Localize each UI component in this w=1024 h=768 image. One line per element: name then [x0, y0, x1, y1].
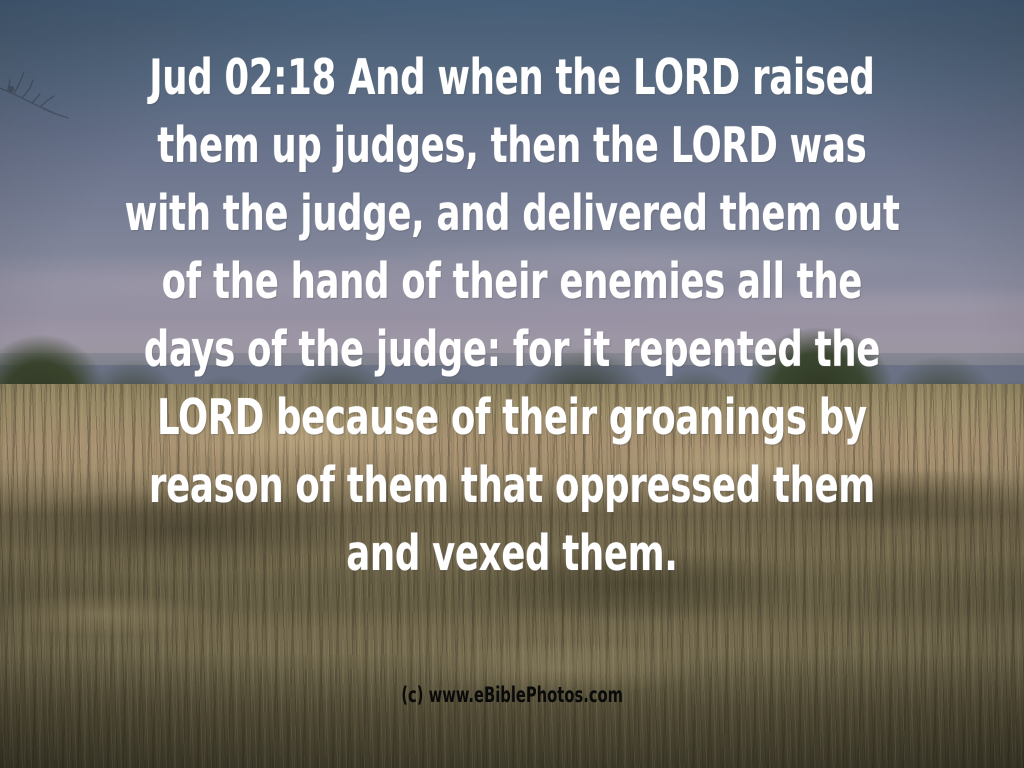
verse-line: them up judges, then the LORD was — [125, 112, 899, 180]
bible-verse-photo: Jud 02:18 And when the LORD raised them … — [0, 0, 1024, 768]
verse-line: LORD because of their groanings by — [125, 384, 899, 452]
verse-line: with the judge, and delivered them out — [125, 180, 899, 248]
watermark-text: (c) www.eBiblePhotos.com — [401, 685, 623, 706]
verse-line: and vexed them. — [125, 520, 899, 588]
verse-line: reason of them that oppressed them — [125, 452, 899, 520]
verse-line: Jud 02:18 And when the LORD raised — [125, 44, 899, 112]
watermark: (c) www.eBiblePhotos.com — [0, 685, 1024, 707]
verse-line: of the hand of their enemies all the — [125, 248, 899, 316]
verse-text-block: Jud 02:18 And when the LORD raised them … — [0, 44, 1024, 588]
verse-line: days of the judge: for it repented the — [125, 316, 899, 384]
